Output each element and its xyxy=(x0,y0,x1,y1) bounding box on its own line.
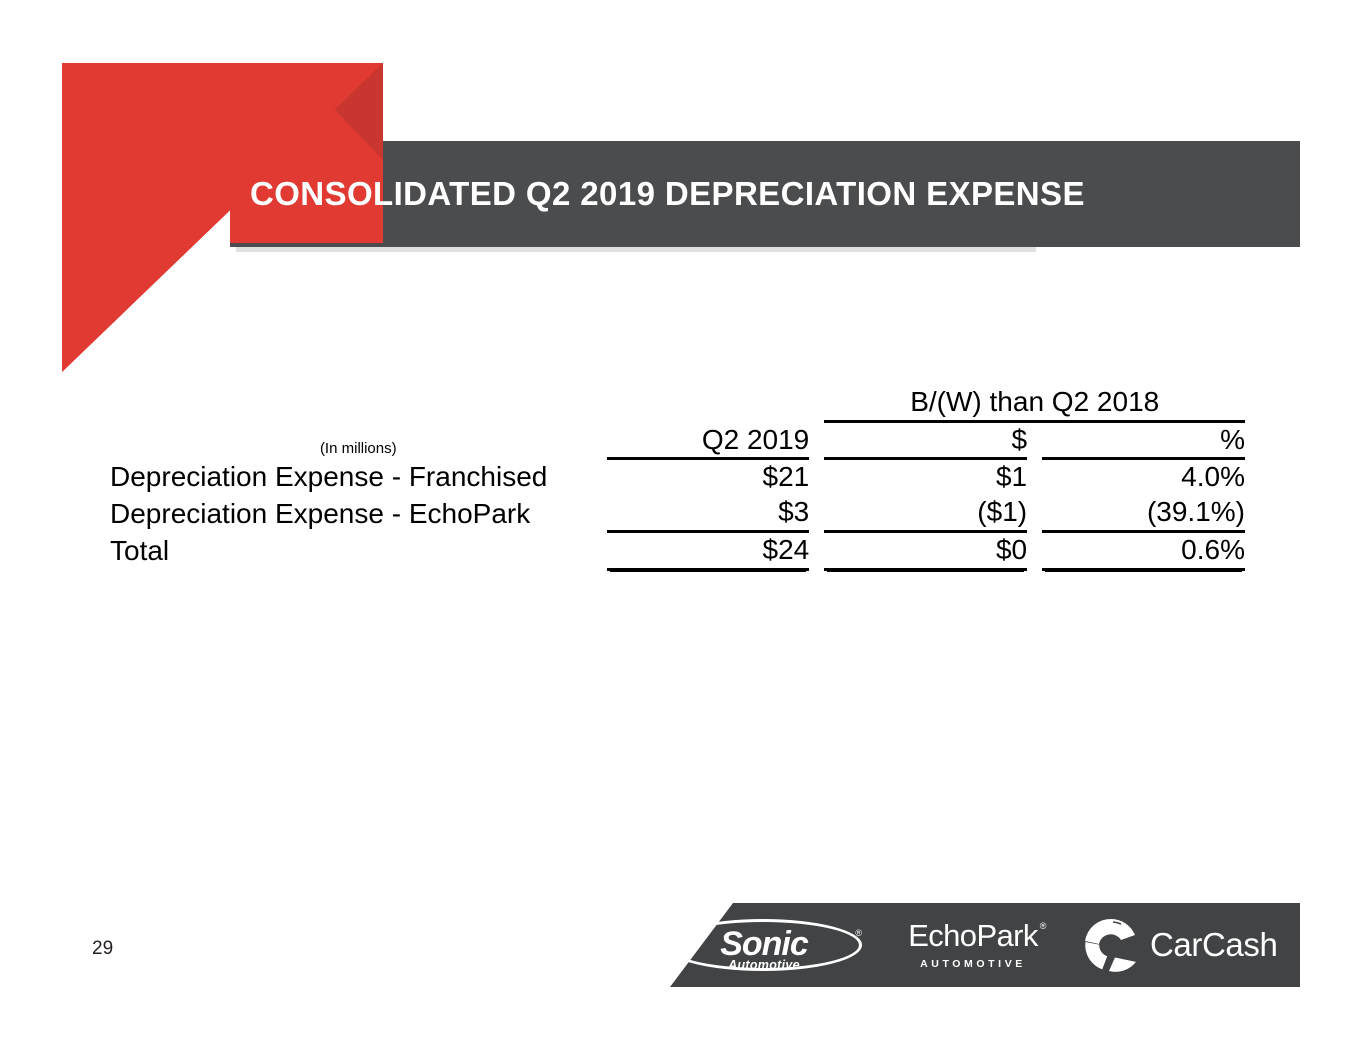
table-header-q2-2019: Q2 2019 xyxy=(607,421,810,459)
row-label-total: Total xyxy=(110,531,607,569)
table-span-header-bw: B/(W) than Q2 2018 xyxy=(824,385,1245,421)
echopark-logo: EchoPark ® AUTOMOTIVE xyxy=(898,914,1048,976)
table-total-row: Total $24 $0 0.6% xyxy=(110,531,1245,569)
row-total-percent: 0.6% xyxy=(1042,531,1245,569)
row-echopark-gap-1 xyxy=(809,495,824,531)
slide-header: CONSOLIDATED Q2 2019 DEPRECIATION EXPENS… xyxy=(0,0,1365,390)
row-label-echopark: Depreciation Expense - EchoPark xyxy=(110,495,607,531)
table-header-gap-2 xyxy=(1027,421,1042,459)
row-label-franchised: Depreciation Expense - Franchised xyxy=(110,459,607,495)
carcash-logo: CarCash xyxy=(1082,914,1282,976)
table-header-percent: % xyxy=(1042,421,1245,459)
depreciation-table: B/(W) than Q2 2018 (In millions) Q2 2019… xyxy=(110,385,1245,571)
sonic-registered-icon: ® xyxy=(855,928,862,938)
page-number: 29 xyxy=(92,938,113,960)
echopark-registered-icon: ® xyxy=(1040,922,1046,931)
row-total-dollar: $0 xyxy=(824,531,1027,569)
table-span-header-row: B/(W) than Q2 2018 xyxy=(110,385,1245,421)
row-franchised-dollar: $1 xyxy=(824,459,1027,495)
row-echopark-percent: (39.1%) xyxy=(1042,495,1245,531)
row-franchised-q2-2019: $21 xyxy=(607,459,810,495)
span-header-spacer-q2 xyxy=(607,385,810,421)
span-header-spacer-gap1 xyxy=(809,385,824,421)
page-title: CONSOLIDATED Q2 2019 DEPRECIATION EXPENS… xyxy=(250,141,1290,247)
sonic-wordmark: Sonic xyxy=(720,928,808,960)
echopark-word-echo: Echo xyxy=(908,918,976,953)
carcash-wordmark: CarCash xyxy=(1150,926,1277,964)
table-row: Depreciation Expense - Franchised $21 $1… xyxy=(110,459,1245,495)
table-header-row: (In millions) Q2 2019 $ % xyxy=(110,421,1245,459)
row-franchised-percent: 4.0% xyxy=(1042,459,1245,495)
row-total-gap-2 xyxy=(1027,531,1042,569)
sonic-tagline: Automotive xyxy=(728,958,800,972)
table-units-note: (In millions) xyxy=(110,421,607,459)
sonic-automotive-logo: Sonic Automotive ® xyxy=(664,912,864,978)
depreciation-table-container: B/(W) than Q2 2018 (In millions) Q2 2019… xyxy=(110,385,1245,571)
echopark-wordmark: EchoPark ® xyxy=(908,920,1038,951)
slide: CONSOLIDATED Q2 2019 DEPRECIATION EXPENS… xyxy=(0,0,1365,1055)
row-echopark-gap-2 xyxy=(1027,495,1042,531)
echopark-tagline: AUTOMOTIVE xyxy=(920,958,1026,970)
row-total-q2-2019: $24 xyxy=(607,531,810,569)
table-header-gap-1 xyxy=(809,421,824,459)
row-total-gap-1 xyxy=(809,531,824,569)
carcash-globe-icon xyxy=(1082,916,1140,974)
footer-logo-group: Sonic Automotive ® EchoPark ® AUTOMOTIVE… xyxy=(660,903,1300,987)
row-echopark-q2-2019: $3 xyxy=(607,495,810,531)
echopark-word-park: Park xyxy=(976,918,1037,953)
row-franchised-gap-1 xyxy=(809,459,824,495)
row-franchised-gap-2 xyxy=(1027,459,1042,495)
span-header-spacer-label xyxy=(110,385,607,421)
table-header-dollar: $ xyxy=(824,421,1027,459)
row-echopark-dollar: ($1) xyxy=(824,495,1027,531)
table-row: Depreciation Expense - EchoPark $3 ($1) … xyxy=(110,495,1245,531)
